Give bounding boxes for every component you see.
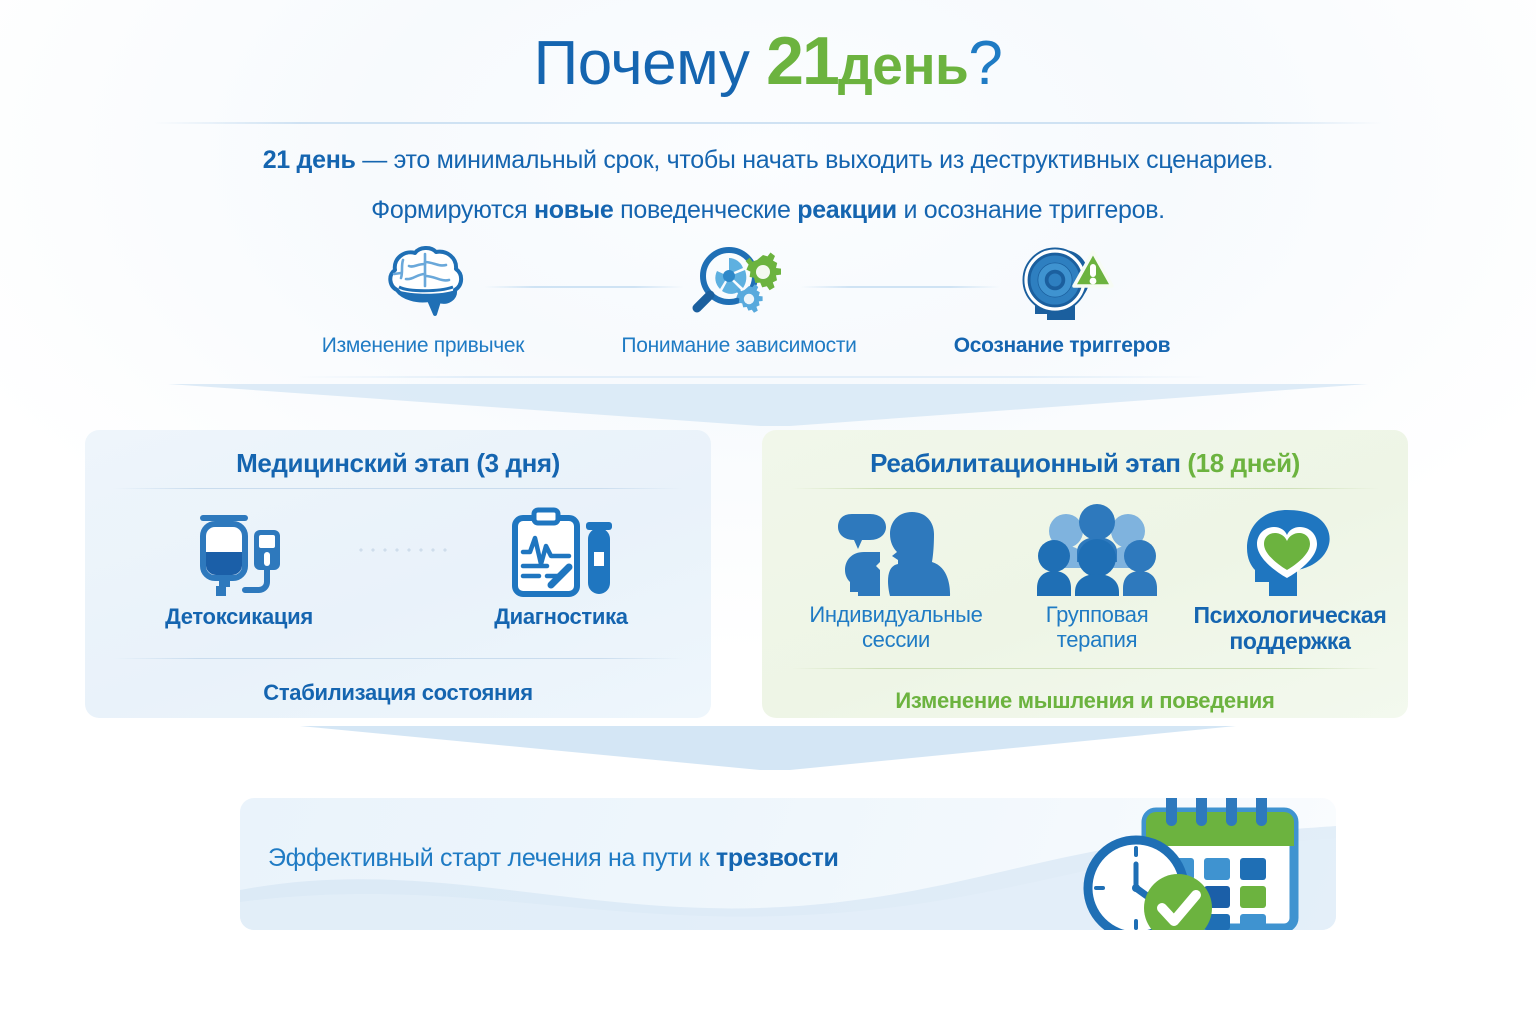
stage-item-individual: Индивидуальные сессии [790, 504, 1002, 653]
intro-line2-d: и осознание триггеров. [897, 196, 1165, 224]
stage-panel-rehab: Реабилитационный этап (18 дней) Индивиду… [762, 430, 1408, 718]
title-part-den: день [838, 34, 969, 96]
concept-item-understanding: Понимание зависимости [589, 240, 889, 358]
stage-item-psych-support: Психологическая поддержка [1182, 504, 1398, 655]
head-target-alert-icon [912, 240, 1212, 324]
title-question-mark: ? [968, 29, 1002, 98]
stage-title-medical: Медицинский этап (3 дня) [85, 448, 711, 479]
stage-divider-bottom-medical [113, 658, 683, 659]
concept-label-triggers: Осознание триггеров [912, 334, 1212, 358]
stage-title-rehab-main: Реабилитационный этап [870, 448, 1187, 478]
stage-item-label-group-line1: Групповая [1002, 602, 1192, 627]
title-part-pochemu: Почему [534, 29, 750, 98]
clipboard-testtube-icon [449, 506, 673, 598]
stage-item-dotted-connector [355, 548, 447, 552]
intro-line1-bold: 21 день [263, 146, 356, 174]
page-title: Почему 21день? [0, 22, 1536, 100]
intro-line2-bold-1: новые [534, 196, 614, 224]
brain-icon [273, 240, 573, 324]
outcome-banner: Эффективный старт лечения на пути к трез… [240, 798, 1336, 930]
stage-divider-top-rehab [790, 488, 1380, 489]
intro-line-1: 21 день — это минимальный срок, чтобы на… [0, 146, 1536, 175]
stage-item-diagnostics: Диагностика [449, 506, 673, 629]
head-heart-icon [1182, 504, 1398, 596]
intro-line-2: Формируются новые поведенческие реакции … [0, 196, 1536, 225]
stage-title-medical-main: Медицинский этап [236, 448, 476, 478]
concept-item-habits: Изменение привычек [273, 240, 573, 358]
stage-title-rehab: Реабилитационный этап (18 дней) [762, 448, 1408, 479]
stage-item-detox: Детоксикация [127, 506, 351, 629]
stage-item-label-psych-line2: поддержка [1182, 628, 1398, 654]
calendar-clock-check-icon [1074, 798, 1324, 930]
stage-item-label-group: Групповая терапия [1002, 602, 1192, 653]
stage-item-label-diagnostics: Диагностика [449, 604, 673, 629]
stage-footer-medical: Стабилизация состояния [85, 680, 711, 706]
stage-item-label-psych-support: Психологическая поддержка [1182, 602, 1398, 655]
stage-item-label-individual: Индивидуальные сессии [790, 602, 1002, 653]
funnel-chevron-bottom [0, 722, 1536, 774]
stage-item-label-individual-line2: сессии [790, 627, 1002, 652]
title-divider [152, 122, 1384, 124]
stage-divider-top-medical [113, 488, 683, 489]
outcome-text-bold: трезвости [716, 844, 839, 872]
stage-item-group: Групповая терапия [1002, 504, 1192, 653]
concept-label-understanding: Понимание зависимости [589, 334, 889, 358]
outcome-banner-text: Эффективный старт лечения на пути к трез… [268, 844, 839, 873]
icon-row-divider [290, 376, 1210, 378]
stage-duration-rehab: (18 дней) [1187, 448, 1300, 478]
stage-duration-medical: (3 дня) [476, 448, 560, 478]
stage-item-label-individual-line1: Индивидуальные [790, 602, 1002, 627]
two-people-speech-icon [790, 504, 1002, 596]
title-part-number: 21 [766, 23, 838, 99]
infographic-root: Почему 21день? 21 день — это минимальный… [0, 0, 1536, 1024]
stage-item-label-psych-line1: Психологическая [1182, 602, 1398, 628]
intro-line2-c: поведенческие [613, 196, 797, 224]
stage-item-label-group-line2: терапия [1002, 627, 1192, 652]
stage-divider-bottom-rehab [790, 668, 1380, 669]
concept-icon-row: Изменение привычек [0, 240, 1536, 380]
concept-label-habits: Изменение привычек [273, 334, 573, 358]
iv-drip-icon [127, 506, 351, 598]
intro-line1-rest: — это минимальный срок, чтобы начать вых… [356, 146, 1274, 174]
stage-panel-medical: Медицинский этап (3 дня) Детоксикаци [85, 430, 711, 718]
outcome-text-normal: Эффективный старт лечения на пути к [268, 844, 716, 872]
intro-line2-a: Формируются [371, 196, 534, 224]
funnel-chevron-top [0, 382, 1536, 430]
magnifier-gears-icon [589, 240, 889, 324]
group-people-icon [1002, 504, 1192, 596]
stage-footer-rehab: Изменение мышления и поведения [762, 688, 1408, 714]
intro-line2-bold-2: реакции [797, 196, 897, 224]
concept-item-triggers: Осознание триггеров [912, 240, 1212, 358]
stage-item-label-detox: Детоксикация [127, 604, 351, 629]
